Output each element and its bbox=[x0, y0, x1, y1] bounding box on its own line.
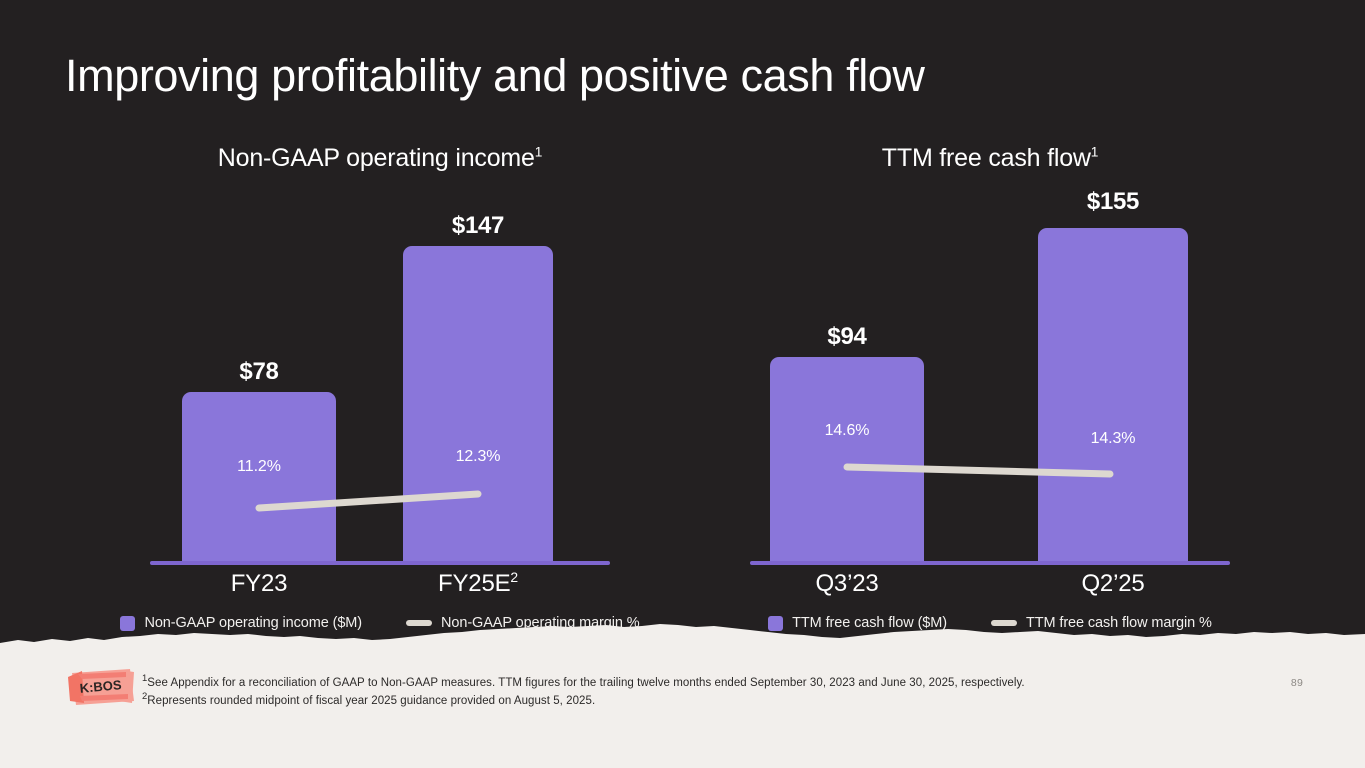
margin-label-q2-25: 14.3% bbox=[1038, 430, 1188, 448]
bar-value-fy23: $78 bbox=[182, 358, 336, 386]
bar-value-fy25e: $147 bbox=[403, 212, 553, 240]
chart-title-left-text: Non-GAAP operating income bbox=[218, 144, 535, 172]
x-axis-labels-right: Q3’23 Q2’25 bbox=[700, 570, 1280, 606]
margin-label-fy23: 11.2% bbox=[182, 458, 336, 476]
x-label-fy25e-text: FY25E bbox=[438, 570, 510, 597]
slide: Improving profitability and positive cas… bbox=[0, 0, 1365, 768]
x-label-fy23-text: FY23 bbox=[231, 570, 288, 597]
footnotes: 1See Appendix for a reconciliation of GA… bbox=[142, 675, 1202, 711]
bar-q2-25[interactable] bbox=[1038, 228, 1188, 561]
chart-title-right-superscript: 1 bbox=[1091, 145, 1098, 160]
chart-title-right: TTM free cash flow1 bbox=[700, 144, 1280, 173]
x-label-q3-23: Q3’23 bbox=[770, 570, 924, 598]
margin-label-q3-23: 14.6% bbox=[770, 422, 924, 440]
chart-title-left: Non-GAAP operating income1 bbox=[100, 144, 660, 173]
kibos-logo-icon: K:BOS bbox=[62, 663, 140, 709]
footer-content: K:BOS 1See Appendix for a reconciliation… bbox=[0, 655, 1365, 768]
chart-ttm-free-cash-flow: TTM free cash flow1 $94 $155 14.6% 14.3%… bbox=[700, 130, 1280, 650]
x-label-fy25e: FY25E2 bbox=[403, 570, 553, 598]
footnote-1-text: See Appendix for a reconciliation of GAA… bbox=[147, 677, 1024, 689]
x-label-q2-25: Q2’25 bbox=[1038, 570, 1188, 598]
bar-value-q3-23: $94 bbox=[770, 323, 924, 351]
bar-fy25e[interactable] bbox=[403, 246, 553, 561]
footnote-2-text: Represents rounded midpoint of fiscal ye… bbox=[147, 695, 595, 707]
x-label-q2-25-text: Q2’25 bbox=[1081, 570, 1144, 597]
axis-baseline-right bbox=[750, 561, 1230, 565]
chart-title-left-superscript: 1 bbox=[535, 145, 542, 160]
plot-area-right: $94 $155 14.6% 14.3% bbox=[700, 185, 1280, 565]
bar-value-q2-25: $155 bbox=[1038, 188, 1188, 216]
x-label-fy23: FY23 bbox=[182, 570, 336, 598]
bar-fy23[interactable] bbox=[182, 392, 336, 561]
chart-title-right-text: TTM free cash flow bbox=[882, 144, 1091, 172]
x-axis-labels-left: FY23 FY25E2 bbox=[100, 570, 660, 606]
x-label-q3-23-text: Q3’23 bbox=[815, 570, 878, 597]
axis-baseline-left bbox=[150, 561, 610, 565]
footer: K:BOS 1See Appendix for a reconciliation… bbox=[0, 655, 1365, 768]
x-label-fy25e-superscript: 2 bbox=[510, 569, 518, 585]
footnote-2: 2Represents rounded midpoint of fiscal y… bbox=[142, 693, 1202, 711]
bar-q3-23[interactable] bbox=[770, 357, 924, 561]
margin-label-fy25e: 12.3% bbox=[403, 448, 553, 466]
footnote-1: 1See Appendix for a reconciliation of GA… bbox=[142, 675, 1202, 693]
page-number: 89 bbox=[1291, 677, 1303, 689]
page-title: Improving profitability and positive cas… bbox=[65, 50, 925, 102]
plot-area-left: $78 $147 11.2% 12.3% bbox=[100, 185, 660, 565]
chart-non-gaap-operating-income: Non-GAAP operating income1 $78 $147 11.2… bbox=[100, 130, 660, 650]
